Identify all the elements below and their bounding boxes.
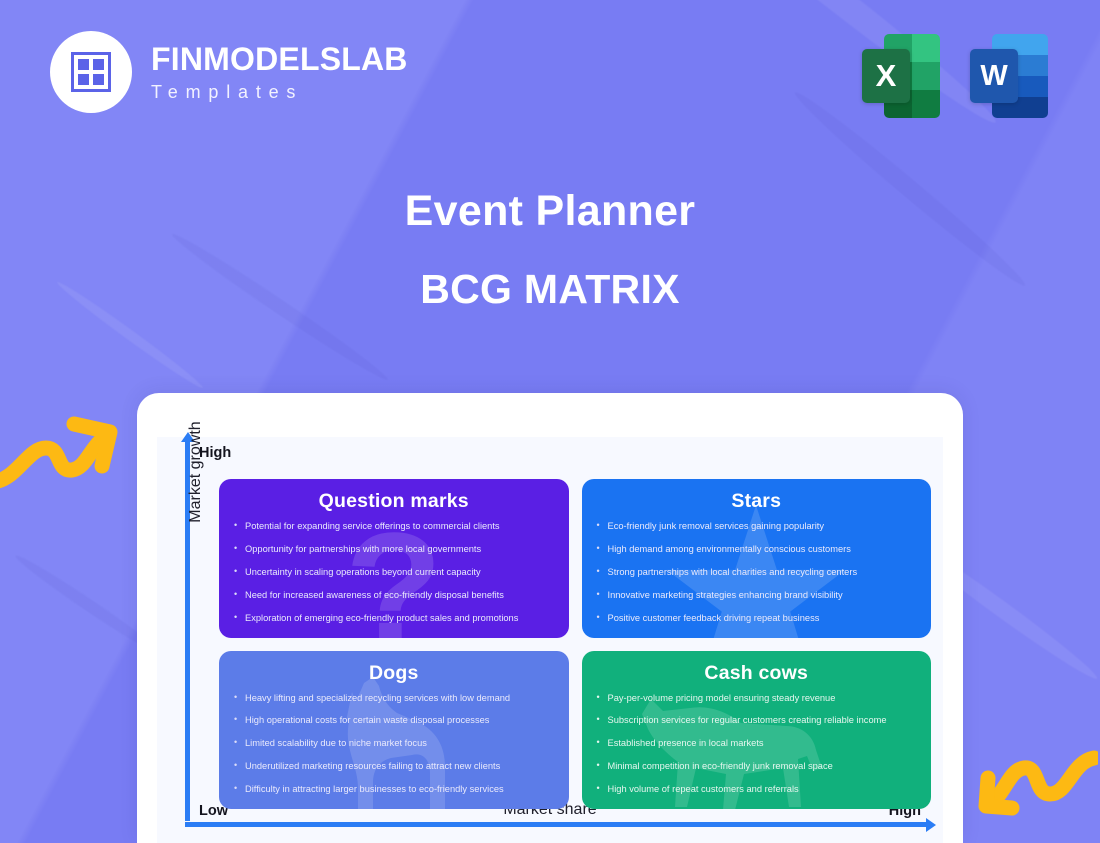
format-icons: X W xyxy=(862,30,1048,118)
quadrant-question-marks[interactable]: ? Question marks Potential for expanding… xyxy=(219,479,569,638)
list-item: High volume of repeat customers and refe… xyxy=(595,785,919,794)
list-item: Strong partnerships with local charities… xyxy=(595,568,919,577)
list-item: Need for increased awareness of eco-frie… xyxy=(232,591,556,600)
quadrant-cash-cows[interactable]: Cash cows Pay-per-volume pricing model e… xyxy=(582,651,932,810)
quadrant-item-list: Potential for expanding service offering… xyxy=(232,522,556,623)
list-item: Eco-friendly junk removal services gaini… xyxy=(595,522,919,531)
brand-logo[interactable]: FINMODELSLAB Templates xyxy=(50,31,408,113)
bcg-quadrant-grid: ? Question marks Potential for expanding… xyxy=(219,479,931,809)
list-item: Subscription services for regular custom… xyxy=(595,716,919,725)
page-title: Event Planner xyxy=(0,190,1100,233)
list-item: Uncertainty in scaling operations beyond… xyxy=(232,568,556,577)
list-item: Established presence in local markets xyxy=(595,739,919,748)
grid-logo-icon xyxy=(50,31,132,113)
title-block: Event Planner BCG MATRIX xyxy=(0,190,1100,310)
squiggly-arrow-down-left-icon xyxy=(972,736,1098,831)
word-icon[interactable]: W xyxy=(970,30,1048,118)
list-item: Exploration of emerging eco-friendly pro… xyxy=(232,614,556,623)
list-item: Positive customer feedback driving repea… xyxy=(595,614,919,623)
x-axis-arrow xyxy=(185,822,927,827)
excel-icon[interactable]: X xyxy=(862,30,940,118)
quadrant-dogs[interactable]: Dogs Heavy lifting and specialized recyc… xyxy=(219,651,569,810)
quadrant-title: Dogs xyxy=(232,662,556,685)
list-item: Limited scalability due to niche market … xyxy=(232,739,556,748)
list-item: Opportunity for partnerships with more l… xyxy=(232,545,556,554)
list-item: High demand among environmentally consci… xyxy=(595,545,919,554)
brand-subtitle: Templates xyxy=(151,82,408,103)
y-axis-label: Market growth xyxy=(187,387,205,557)
page-header: FINMODELSLAB Templates X W xyxy=(0,0,1100,150)
list-item: High operational costs for certain waste… xyxy=(232,716,556,725)
matrix-panel: High Low Market growth Market share High… xyxy=(157,437,943,843)
quadrant-title: Stars xyxy=(595,490,919,513)
quadrant-item-list: Pay-per-volume pricing model ensuring st… xyxy=(595,694,919,795)
list-item: Difficulty in attracting larger business… xyxy=(232,785,556,794)
list-item: Innovative marketing strategies enhancin… xyxy=(595,591,919,600)
page-subtitle: BCG MATRIX xyxy=(0,269,1100,310)
list-item: Heavy lifting and specialized recycling … xyxy=(232,694,556,703)
word-icon-letter: W xyxy=(970,49,1018,103)
quadrant-item-list: Heavy lifting and specialized recycling … xyxy=(232,694,556,795)
list-item: Potential for expanding service offering… xyxy=(232,522,556,531)
quadrant-item-list: Eco-friendly junk removal services gaini… xyxy=(595,522,919,623)
quadrant-title: Cash cows xyxy=(595,662,919,685)
quadrant-title: Question marks xyxy=(232,490,556,513)
squiggly-arrow-up-right-icon xyxy=(0,404,122,495)
matrix-card: High Low Market growth Market share High… xyxy=(137,393,963,843)
list-item: Minimal competition in eco-friendly junk… xyxy=(595,762,919,771)
list-item: Pay-per-volume pricing model ensuring st… xyxy=(595,694,919,703)
quadrant-stars[interactable]: Stars Eco-friendly junk removal services… xyxy=(582,479,932,638)
excel-icon-letter: X xyxy=(862,49,910,103)
list-item: Underutilized marketing resources failin… xyxy=(232,762,556,771)
brand-name: FINMODELSLAB xyxy=(151,43,408,77)
